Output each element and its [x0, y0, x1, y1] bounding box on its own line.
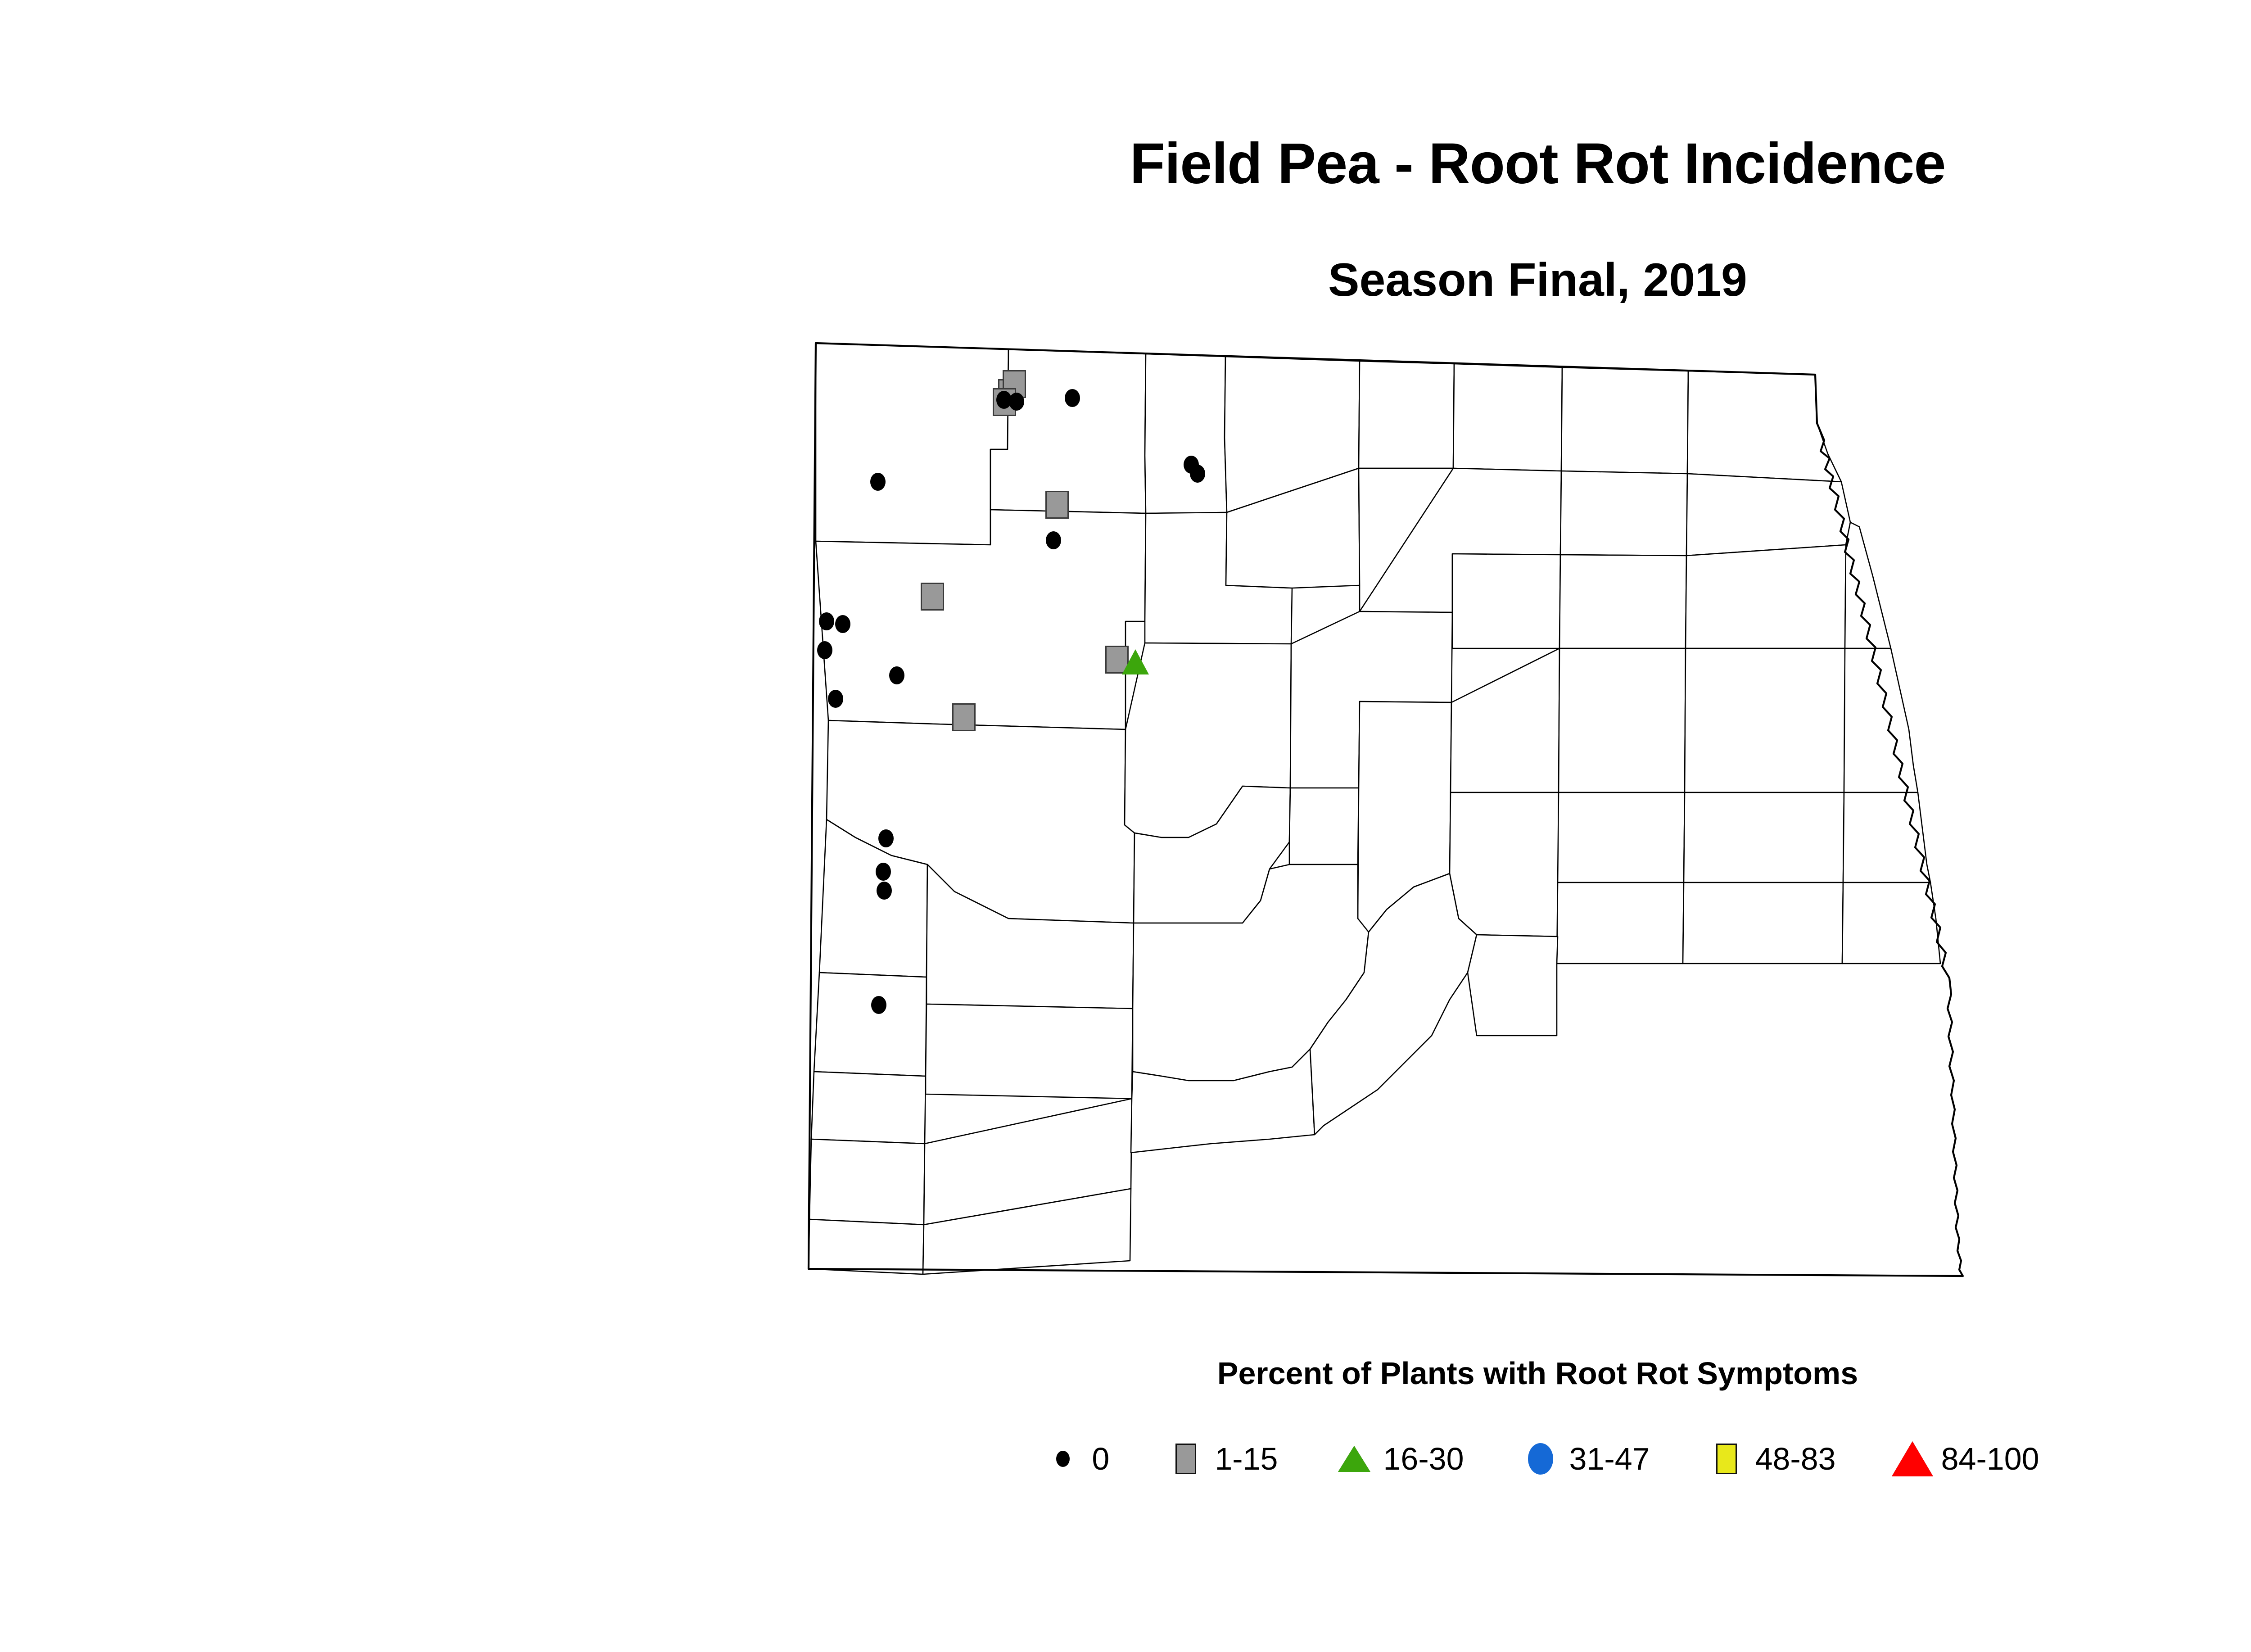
figure-root: Field Pea - Root Rot Incidence Season Fi…	[0, 0, 2251, 1652]
map-marker-16-30	[1122, 649, 1149, 674]
map-marker-1-15	[952, 703, 976, 731]
legend-symbol-red-triangle-glyph	[1892, 1441, 1933, 1476]
map-marker-0	[835, 615, 850, 633]
north-dakota-map	[738, 333, 2251, 1288]
legend-label-84-100: 84-100	[1941, 1441, 2039, 1477]
map-marker-0	[1065, 389, 1080, 407]
legend-label-0: 0	[1092, 1441, 1109, 1477]
marker-layer	[738, 333, 2251, 1288]
legend-item-48-83: 48-83	[1700, 1432, 1836, 1486]
map-marker-0	[877, 882, 892, 900]
legend-symbol-yellow-square	[1700, 1432, 1754, 1486]
legend-symbol-blue-circle	[1514, 1432, 1568, 1486]
legend-symbol-red-triangle	[1885, 1432, 1939, 1486]
legend-symbol-blue-circle-glyph	[1528, 1443, 1553, 1475]
legend-symbol-zero-glyph	[1056, 1451, 1070, 1467]
legend-item-0: 0	[1036, 1432, 1109, 1486]
legend-item-1-15: 1-15	[1159, 1432, 1278, 1486]
page-title: Field Pea - Root Rot Incidence	[0, 135, 2251, 193]
legend-symbol-green-triangle-glyph	[1338, 1446, 1370, 1472]
map-marker-0	[878, 829, 894, 847]
map-marker-0	[876, 863, 891, 881]
map-marker-0	[1009, 393, 1024, 411]
legend-item-84-100: 84-100	[1885, 1432, 2039, 1486]
map-marker-0	[817, 641, 832, 659]
legend-label-48-83: 48-83	[1755, 1441, 1836, 1477]
legend-heading: Percent of Plants with Root Rot Symptoms	[0, 1355, 2251, 1391]
map-marker-0	[889, 666, 904, 684]
map-marker-0	[871, 996, 886, 1014]
map-marker-0	[828, 690, 843, 708]
legend-symbol-yellow-square-glyph	[1716, 1444, 1737, 1474]
legend-label-1-15: 1-15	[1215, 1441, 1278, 1477]
legend-label-16-30: 16-30	[1383, 1441, 1464, 1477]
legend: 01-1516-3031-4748-8384-100	[0, 1432, 2251, 1486]
map-marker-0	[870, 473, 886, 491]
legend-symbol-zero	[1036, 1432, 1090, 1486]
legend-symbol-gray-square-glyph	[1175, 1444, 1196, 1474]
map-marker-0	[819, 612, 834, 630]
legend-item-31-47: 31-47	[1514, 1432, 1650, 1486]
map-marker-0	[1046, 531, 1061, 549]
map-marker-0	[1190, 465, 1205, 483]
legend-item-16-30: 16-30	[1327, 1432, 1464, 1486]
legend-symbol-green-triangle	[1327, 1432, 1381, 1486]
legend-label-31-47: 31-47	[1569, 1441, 1650, 1477]
map-marker-1-15	[921, 583, 944, 611]
page-subtitle: Season Final, 2019	[0, 257, 2251, 303]
legend-symbol-gray-square	[1159, 1432, 1213, 1486]
map-marker-1-15	[1045, 491, 1069, 519]
